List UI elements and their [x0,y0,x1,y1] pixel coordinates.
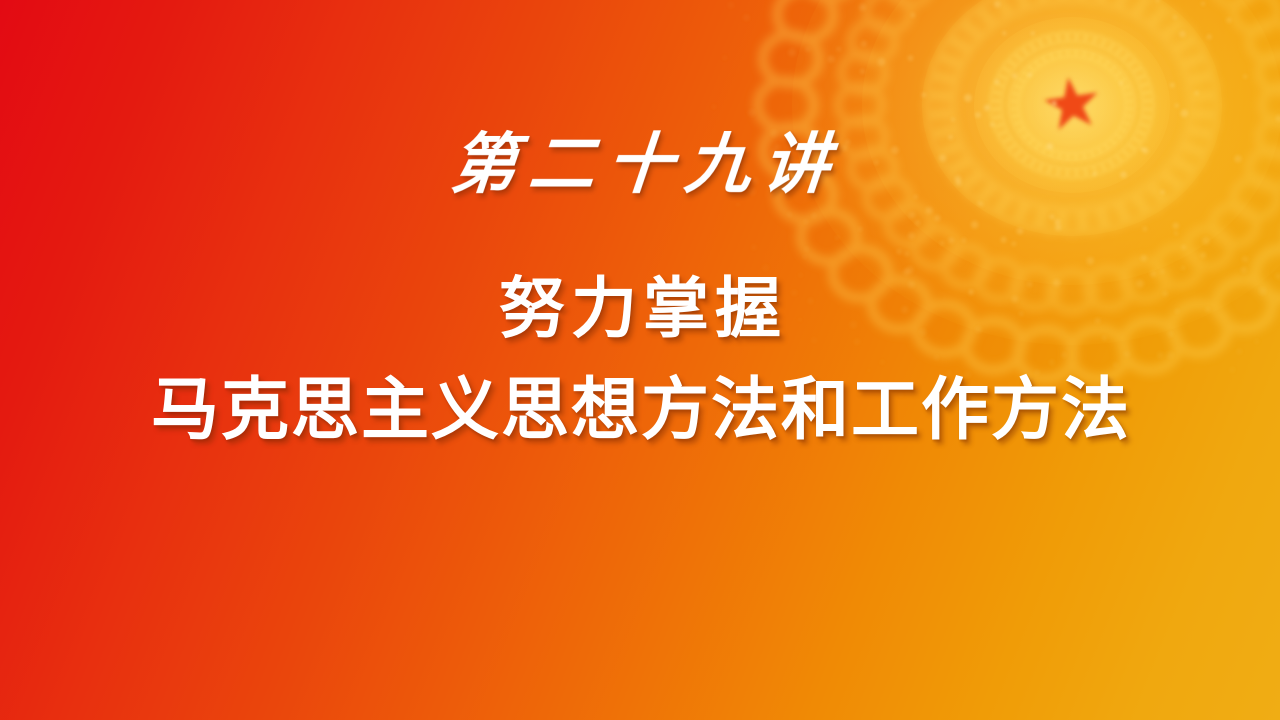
background-dot-texture [0,0,1280,720]
subtitle-line-1: 努力掌握 [0,272,1280,346]
subtitle-line-2: 马克思主义思想方法和工作方法 [0,372,1280,448]
slide-canvas: 第二十九讲 努力掌握 马克思主义思想方法和工作方法 [0,0,1280,720]
emblem-halo-ring-3 [922,0,1222,236]
red-star-icon [1041,74,1102,132]
page-title: 第二十九讲 [0,128,1280,201]
